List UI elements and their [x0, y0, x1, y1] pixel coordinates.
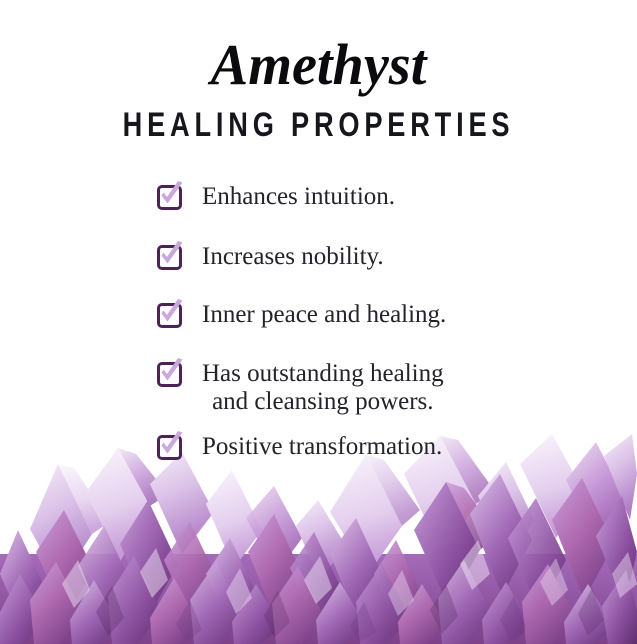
list-item-label: Positive transformation. [202, 432, 442, 461]
header: Amethyst HEALING PROPERTIES [0, 36, 637, 142]
checked-checkbox-icon [157, 435, 182, 460]
list-item: Has outstanding healing and cleansing po… [0, 359, 637, 416]
checked-checkbox-icon [157, 362, 182, 387]
list-item-label: Has outstanding healing and cleansing po… [202, 359, 444, 416]
page-title: Amethyst [10, 36, 628, 94]
checked-checkbox-icon [157, 245, 182, 270]
list-item-label: Enhances intuition. [202, 182, 395, 211]
checked-checkbox-icon [157, 303, 182, 328]
poster: Amethyst HEALING PROPERTIES Enhances int… [0, 0, 637, 644]
properties-list: Enhances intuition. Increases nobility. [0, 182, 637, 461]
list-item-label: Increases nobility. [202, 242, 384, 271]
list-item-label: Inner peace and healing. [202, 300, 446, 329]
list-item: Inner peace and healing. [0, 300, 637, 329]
list-item: Increases nobility. [0, 242, 637, 271]
list-item: Enhances intuition. [0, 182, 637, 211]
checked-checkbox-icon [157, 185, 182, 210]
amethyst-crystal-cluster-photo [0, 434, 637, 644]
page-subtitle: HEALING PROPERTIES [64, 108, 574, 142]
list-item: Positive transformation. [0, 432, 637, 461]
